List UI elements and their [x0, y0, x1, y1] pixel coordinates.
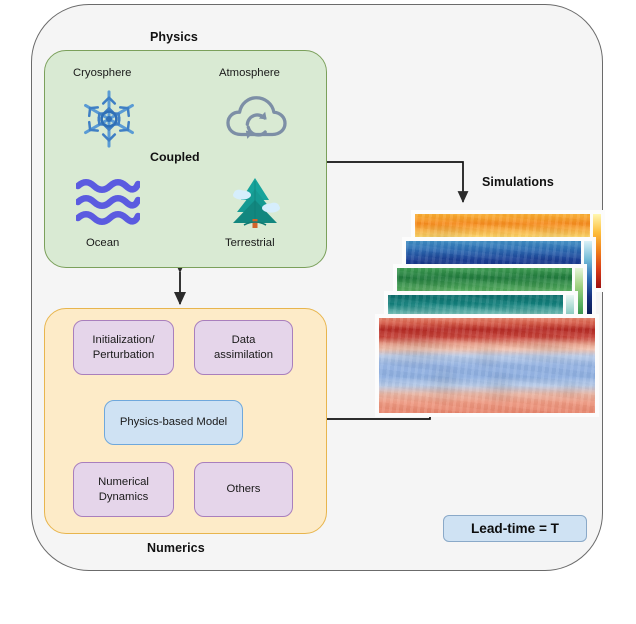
label-ocean: Ocean: [86, 237, 119, 249]
diagram-canvas: Physics Cryosphere Atmosphere Ocean Terr…: [0, 0, 636, 624]
label-atmosphere: Atmosphere: [219, 67, 280, 79]
waves-icon: [76, 178, 140, 226]
label-cryosphere: Cryosphere: [73, 67, 131, 79]
label-terrestrial: Terrestrial: [225, 237, 275, 249]
box-physics-based-model[interactable]: Physics-based Model: [104, 400, 243, 445]
lead-time-badge: Lead-time = T: [443, 515, 587, 542]
box-numerical-dynamics[interactable]: NumericalDynamics: [73, 462, 174, 517]
pine-tree-icon: [226, 175, 284, 231]
box-data-assimilation[interactable]: Dataassimilation: [194, 320, 293, 375]
temperature-map: [379, 318, 595, 413]
simulations-title: Simulations: [482, 175, 554, 189]
numerics-title: Numerics: [147, 541, 205, 555]
box-others[interactable]: Others: [194, 462, 293, 517]
arrow-physics-to-simulations: [327, 162, 463, 202]
label-coupled: Coupled: [150, 150, 200, 164]
simulation-stack: [375, 198, 605, 388]
cloud-cycle-icon: [225, 90, 287, 148]
physics-title: Physics: [150, 30, 198, 44]
box-initialization-perturbation[interactable]: Initialization/Perturbation: [73, 320, 174, 375]
snowflake-icon: [78, 88, 140, 150]
simulation-layer-front: [375, 314, 599, 417]
field-texture: [379, 318, 595, 413]
